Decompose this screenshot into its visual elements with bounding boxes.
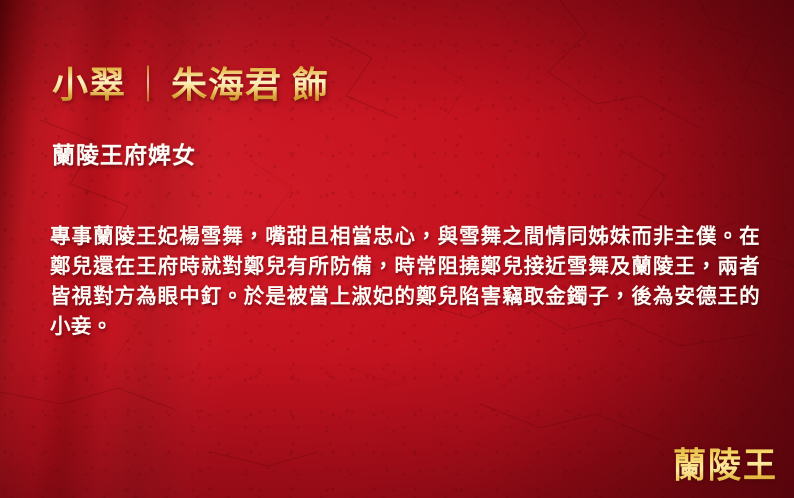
character-description: 專事蘭陵王妃楊雪舞，嘴甜且相當忠心，與雪舞之間情同姊妹而非主僕。在鄭兒還在王府時…	[50, 222, 760, 342]
character-name: 小翠	[52, 65, 126, 105]
character-title-line: 小翠｜朱海君 飾	[52, 62, 329, 108]
character-profile-card: 小翠｜朱海君 飾 蘭陵王府婢女 專事蘭陵王妃楊雪舞，嘴甜且相當忠心，與雪舞之間情…	[0, 0, 794, 498]
actor-name: 朱海君	[171, 65, 282, 105]
show-logo-text: 蘭陵王	[666, 443, 778, 490]
actor-role-suffix: 飾	[292, 65, 329, 105]
title-separator: ｜	[126, 62, 171, 108]
character-subtitle: 蘭陵王府婢女	[52, 136, 196, 170]
show-logo: 蘭陵王	[666, 446, 778, 490]
